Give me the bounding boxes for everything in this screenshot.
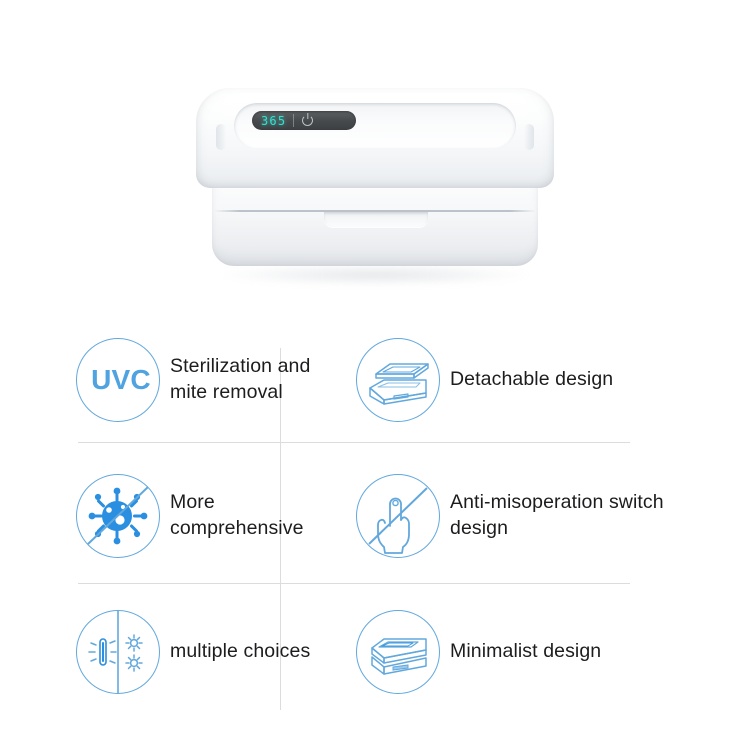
feature-label: multiple choices: [170, 639, 310, 665]
feature-label: Sterilization and mite removal: [170, 354, 352, 405]
product-latch-notch: [324, 212, 428, 227]
feature-item-minimalist: Minimalist design: [356, 584, 674, 720]
uvc-label: UVC: [75, 338, 167, 422]
feature-label: Detachable design: [450, 367, 613, 393]
hand-glyph: [356, 474, 440, 558]
feature-grid-section: UVC Sterilization and mite removal: [0, 312, 750, 750]
detachable-box-glyph: [356, 338, 440, 422]
feature-item-multiple-choices: multiple choices: [76, 584, 356, 720]
no-touch-hand-icon: [356, 474, 440, 558]
closed-box-glyph: [356, 610, 440, 694]
germ-glyph: [76, 474, 160, 558]
product-hero: 365: [0, 0, 750, 310]
detachable-box-icon: [356, 338, 440, 422]
feature-item-anti-misoperation: Anti-misoperation switch design: [356, 448, 674, 584]
product-lid: 365: [196, 88, 554, 188]
product-image: 365: [196, 88, 554, 280]
feature-label: Anti-misoperation switch design: [450, 490, 670, 541]
feature-grid: UVC Sterilization and mite removal: [76, 312, 674, 732]
display-divider: [293, 114, 294, 127]
product-shadow: [220, 264, 530, 286]
feature-label: Minimalist design: [450, 639, 601, 665]
lid-hinge-left: [216, 124, 226, 150]
control-panel: 365: [234, 103, 516, 149]
no-germs-icon: [76, 474, 160, 558]
uvc-badge-icon: UVC: [76, 338, 160, 422]
display-value: 365: [252, 115, 286, 127]
feature-item-comprehensive: More comprehensive: [76, 448, 356, 584]
feature-item-uvc: UVC Sterilization and mite removal: [76, 312, 356, 448]
led-display: 365: [252, 111, 356, 130]
feature-label: More comprehensive: [170, 490, 352, 541]
lamp-modes-glyph: [76, 610, 160, 694]
product-infographic-page: { "product": { "name": "uv-sterilizer-bo…: [0, 0, 750, 750]
power-icon[interactable]: [302, 115, 313, 126]
closed-box-icon: [356, 610, 440, 694]
lid-hinge-right: [524, 124, 534, 150]
feature-item-detachable: Detachable design: [356, 312, 674, 448]
uv-lamp-modes-icon: [76, 610, 160, 694]
